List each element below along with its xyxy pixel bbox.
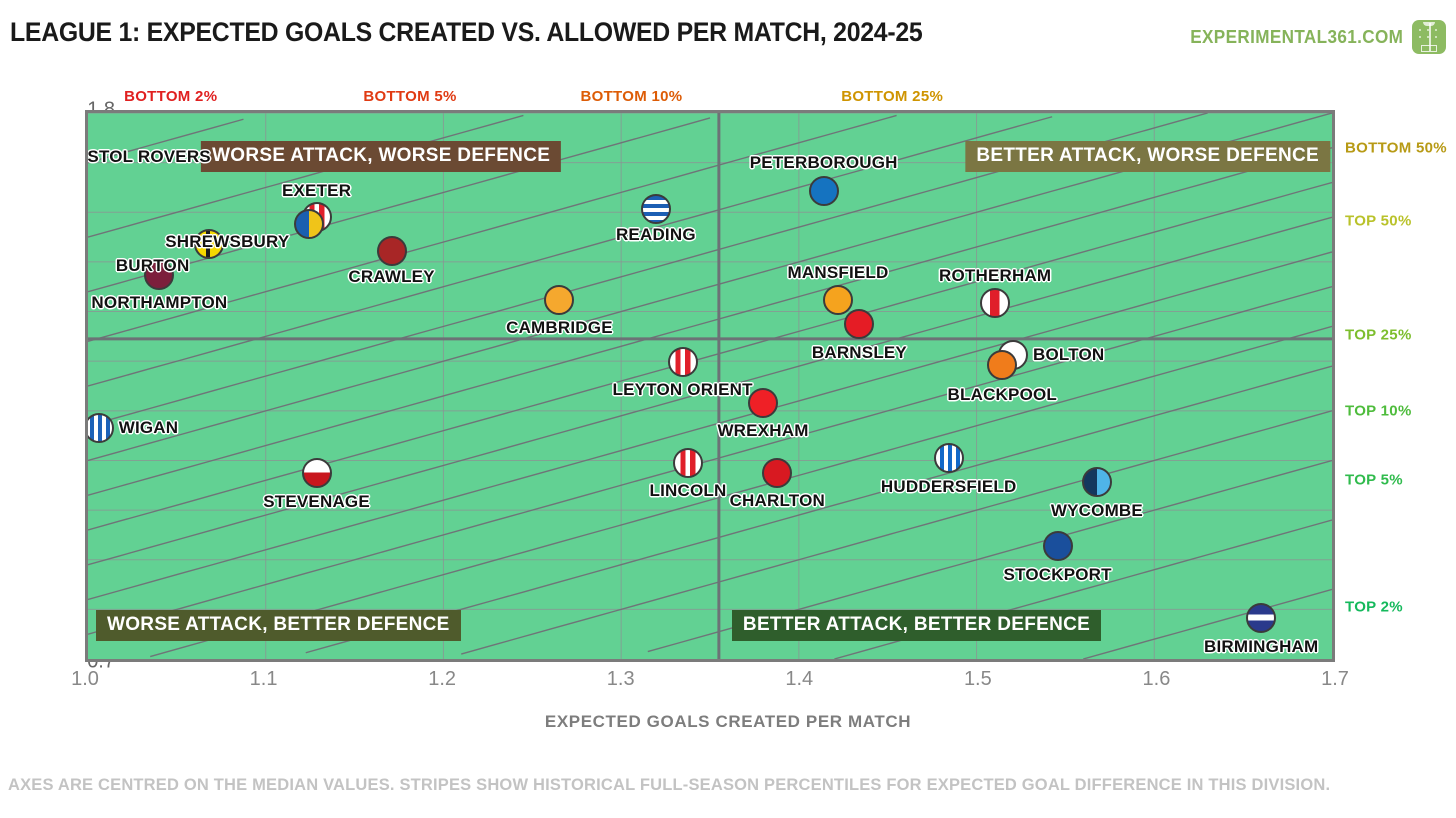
team-label: STOCKPORT	[1004, 565, 1112, 585]
top-percentile-label: BOTTOM 10%	[580, 88, 682, 105]
team-label: MANSFIELD	[788, 263, 889, 283]
x-tick-label: 1.0	[55, 668, 115, 691]
team-label: CRAWLEY	[348, 267, 434, 287]
team-markers: BRISTOL ROVERSEXETERSHREWSBURYBURTONCRAW…	[88, 113, 1332, 659]
team-marker-lincoln[interactable]	[673, 448, 703, 478]
team-label: EXETER	[282, 181, 351, 201]
team-label: SHREWSBURY	[165, 232, 289, 252]
quadrant-label-worse-attack-worse-defence: WORSE ATTACK, WORSE DEFENCE	[201, 141, 561, 172]
top-percentile-label: BOTTOM 2%	[124, 88, 217, 105]
team-marker-wycombe[interactable]	[1082, 467, 1112, 497]
team-label: READING	[616, 225, 696, 245]
right-percentile-label: TOP 50%	[1345, 213, 1412, 230]
team-label: WREXHAM	[717, 421, 808, 441]
team-label: BOLTON	[1033, 345, 1104, 365]
x-tick-label: 1.7	[1305, 668, 1365, 691]
team-marker-crawley[interactable]	[377, 236, 407, 266]
team-marker-wigan[interactable]	[85, 413, 114, 443]
x-tick-label: 1.5	[948, 668, 1008, 691]
right-percentile-label: TOP 10%	[1345, 403, 1412, 420]
team-label: BURTON	[116, 256, 190, 276]
quadrant-label-worse-attack-better-defence: WORSE ATTACK, BETTER DEFENCE	[96, 610, 461, 641]
team-label: CHARLTON	[730, 491, 825, 511]
team-marker-charlton[interactable]	[762, 458, 792, 488]
team-marker-huddersfield[interactable]	[934, 443, 964, 473]
team-label: BRISTOL ROVERS	[85, 147, 211, 167]
team-marker-barnsley[interactable]	[844, 309, 874, 339]
right-percentile-label: TOP 2%	[1345, 598, 1403, 615]
team-label: PETERBOROUGH	[750, 153, 898, 173]
team-marker-stockport[interactable]	[1043, 531, 1073, 561]
team-label: LEYTON ORIENT	[613, 380, 753, 400]
scatter-plot-area: BRISTOL ROVERSEXETERSHREWSBURYBURTONCRAW…	[85, 110, 1335, 662]
team-marker-rotherham[interactable]	[980, 288, 1010, 318]
team-label: LINCOLN	[650, 481, 727, 501]
team-marker-mansfield[interactable]	[823, 285, 853, 315]
team-marker-blackpool[interactable]	[987, 350, 1017, 380]
top-percentile-label: BOTTOM 25%	[841, 88, 943, 105]
right-percentile-label: TOP 25%	[1345, 326, 1412, 343]
x-tick-label: 1.4	[769, 668, 829, 691]
team-label: HUDDERSFIELD	[881, 477, 1017, 497]
top-percentile-label: BOTTOM 5%	[363, 88, 456, 105]
right-percentile-label: TOP 5%	[1345, 472, 1403, 489]
team-marker-birmingham[interactable]	[1246, 603, 1276, 633]
team-label: WIGAN	[119, 418, 179, 438]
team-marker-peterborough[interactable]	[809, 176, 839, 206]
x-tick-label: 1.2	[412, 668, 472, 691]
team-label: BIRMINGHAM	[1204, 637, 1318, 657]
right-percentile-label: BOTTOM 50%	[1345, 139, 1447, 156]
page-title: LEAGUE 1: EXPECTED GOALS CREATED VS. ALL…	[10, 17, 922, 48]
team-label: BARNSLEY	[812, 343, 907, 363]
brand-text: EXPERIMENTAL361.COM	[1190, 27, 1403, 48]
x-axis-title: EXPECTED GOALS CREATED PER MATCH	[0, 712, 1456, 732]
team-marker-shrewsbury[interactable]	[294, 209, 324, 239]
team-marker-cambridge[interactable]	[544, 285, 574, 315]
team-label: ROTHERHAM	[939, 266, 1051, 286]
footnote: AXES ARE CENTRED ON THE MEDIAN VALUES. S…	[8, 775, 1330, 795]
team-marker-reading[interactable]	[641, 194, 671, 224]
x-tick-label: 1.3	[591, 668, 651, 691]
brand[interactable]: EXPERIMENTAL361.COM	[1179, 20, 1446, 54]
team-label: NORTHAMPTON	[91, 293, 227, 313]
quadrant-label-better-attack-better-defence: BETTER ATTACK, BETTER DEFENCE	[732, 610, 1101, 641]
team-marker-stevenage[interactable]	[302, 458, 332, 488]
x-tick-label: 1.6	[1126, 668, 1186, 691]
football-pitch-icon	[1412, 20, 1446, 54]
team-marker-leyton-orient[interactable]	[668, 347, 698, 377]
team-label: BLACKPOOL	[948, 385, 1057, 405]
chart-header: LEAGUE 1: EXPECTED GOALS CREATED VS. ALL…	[0, 0, 1456, 70]
quadrant-label-better-attack-worse-defence: BETTER ATTACK, WORSE DEFENCE	[965, 141, 1330, 172]
x-tick-label: 1.1	[234, 668, 294, 691]
team-label: CAMBRIDGE	[506, 318, 613, 338]
team-label: WYCOMBE	[1051, 501, 1143, 521]
team-label: STEVENAGE	[263, 492, 370, 512]
